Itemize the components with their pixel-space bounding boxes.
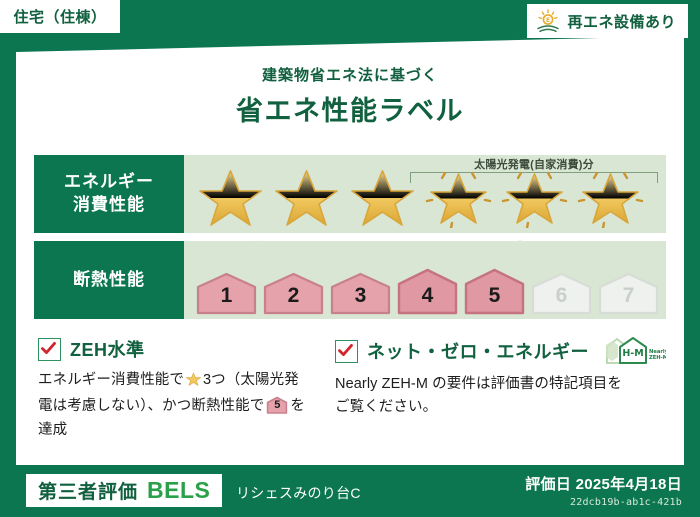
building-name: リシェスみのり台C	[236, 483, 361, 503]
insulation-level-number: 1	[194, 284, 259, 308]
checkbox-checked-icon	[335, 340, 358, 363]
renewable-energy-badge: E 再エネ設備あり	[527, 4, 688, 38]
insulation-level-badge: 2	[261, 271, 326, 315]
insulation-level-number: 4	[395, 284, 460, 308]
insulation-performance-row: 断熱性能 1 2	[34, 241, 666, 319]
insulation-level-badge: 7	[596, 271, 661, 315]
energy-label-line1: エネルギー	[64, 171, 154, 194]
checkbox-checked-icon	[38, 338, 61, 361]
nearly-zeh-m-house-logo-icon: H-M Nearly ZEH-M	[604, 336, 666, 366]
star-solar-icon	[574, 166, 647, 228]
svg-text:E: E	[546, 17, 550, 24]
label-panel: ハウスラボ 建築物省エネ法に基づく 省エネ性能ラベル エネルギー 消費性能 太陽…	[16, 36, 684, 465]
star-solar-icon	[498, 166, 571, 228]
star-solar-icon	[422, 166, 495, 228]
insulation-label: 断熱性能	[73, 269, 145, 292]
renewable-badge-label: 再エネ設備あり	[567, 11, 676, 32]
insulation-level-number: 5	[462, 284, 527, 308]
insulation-level-badge: 1	[194, 271, 259, 315]
svg-text:ZEH-M: ZEH-M	[649, 355, 666, 361]
inline-level-number: 5	[266, 397, 288, 415]
insulation-level-number: 7	[596, 284, 661, 308]
evaluation-id: 22dcb19b-ab1c-421b	[525, 497, 682, 508]
star-icon	[270, 166, 343, 228]
bels-en-label: BELS	[147, 477, 210, 504]
insulation-level-number: 6	[529, 284, 594, 308]
sun-icon: E	[535, 9, 561, 33]
energy-row-body: 太陽光発電(自家消費)分	[184, 155, 666, 233]
insulation-level-number: 3	[328, 284, 393, 308]
criterion-net-zero-energy: ネット・ゼロ・エネルギー H-M Nearly ZEH-M	[309, 336, 666, 442]
criterion-zeh-description: エネルギー消費性能で3つ（太陽光発電は考慮しない）、かつ断熱性能で5を達成	[38, 369, 309, 442]
insulation-level-badge: 4	[395, 267, 460, 315]
star-icon	[185, 371, 202, 395]
evaluation-info: 評価日 2025年4月18日 22dcb19b-ab1c-421b	[525, 473, 682, 508]
label-title: 建築物省エネ法に基づく 省エネ性能ラベル	[16, 64, 684, 128]
insulation-level-inline-badge: 5	[266, 396, 288, 414]
criterion-zeh-title: ZEH水準	[70, 336, 145, 362]
building-type-tag: 住宅（住棟）	[0, 0, 120, 33]
criterion-zeh: ZEH水準 エネルギー消費性能で3つ（太陽光発電は考慮しない）、かつ断熱性能で5…	[38, 336, 309, 442]
energy-label-line2: 消費性能	[73, 194, 145, 217]
zeh-desc-part1: エネルギー消費性能で	[38, 372, 184, 388]
star-icon	[194, 166, 267, 228]
insulation-row-label: 断熱性能	[34, 241, 184, 319]
criterion-net-zero-title: ネット・ゼロ・エネルギー	[367, 338, 589, 364]
label-footer: 第三者評価 BELS リシェスみのり台C 評価日 2025年4月18日 22dc…	[0, 465, 700, 517]
evaluation-date: 評価日 2025年4月18日	[525, 473, 682, 494]
insulation-level-badge: 3	[328, 271, 393, 315]
energy-performance-row: エネルギー 消費性能 太陽光発電(自家消費)分	[34, 155, 666, 233]
star-icon	[346, 166, 419, 228]
title-main: 省エネ性能ラベル	[16, 89, 684, 128]
rating-rows: エネルギー 消費性能 太陽光発電(自家消費)分	[34, 155, 666, 327]
insulation-level-scale: 1 2 3 4	[184, 237, 661, 324]
energy-row-label: エネルギー 消費性能	[34, 155, 184, 233]
criteria-section: ZEH水準 エネルギー消費性能で3つ（太陽光発電は考慮しない）、かつ断熱性能で5…	[38, 336, 666, 442]
bels-certification-badge: 第三者評価 BELS	[26, 474, 222, 507]
star-rating	[184, 166, 647, 228]
insulation-level-badge: 5	[462, 267, 527, 315]
svg-text:H-M: H-M	[622, 348, 643, 359]
insulation-level-number: 2	[261, 284, 326, 308]
insulation-level-badge: 6	[529, 271, 594, 315]
bels-jp-label: 第三者評価	[38, 477, 138, 504]
energy-performance-label: 住宅（住棟） E 再エネ設備あり ハウスラボ	[0, 0, 700, 517]
criterion-net-zero-description: Nearly ZEH-M の要件は評価書の特記項目をご覧ください。	[335, 373, 635, 420]
insulation-row-body: 1 2 3 4	[184, 241, 666, 319]
title-subtitle: 建築物省エネ法に基づく	[16, 64, 684, 85]
